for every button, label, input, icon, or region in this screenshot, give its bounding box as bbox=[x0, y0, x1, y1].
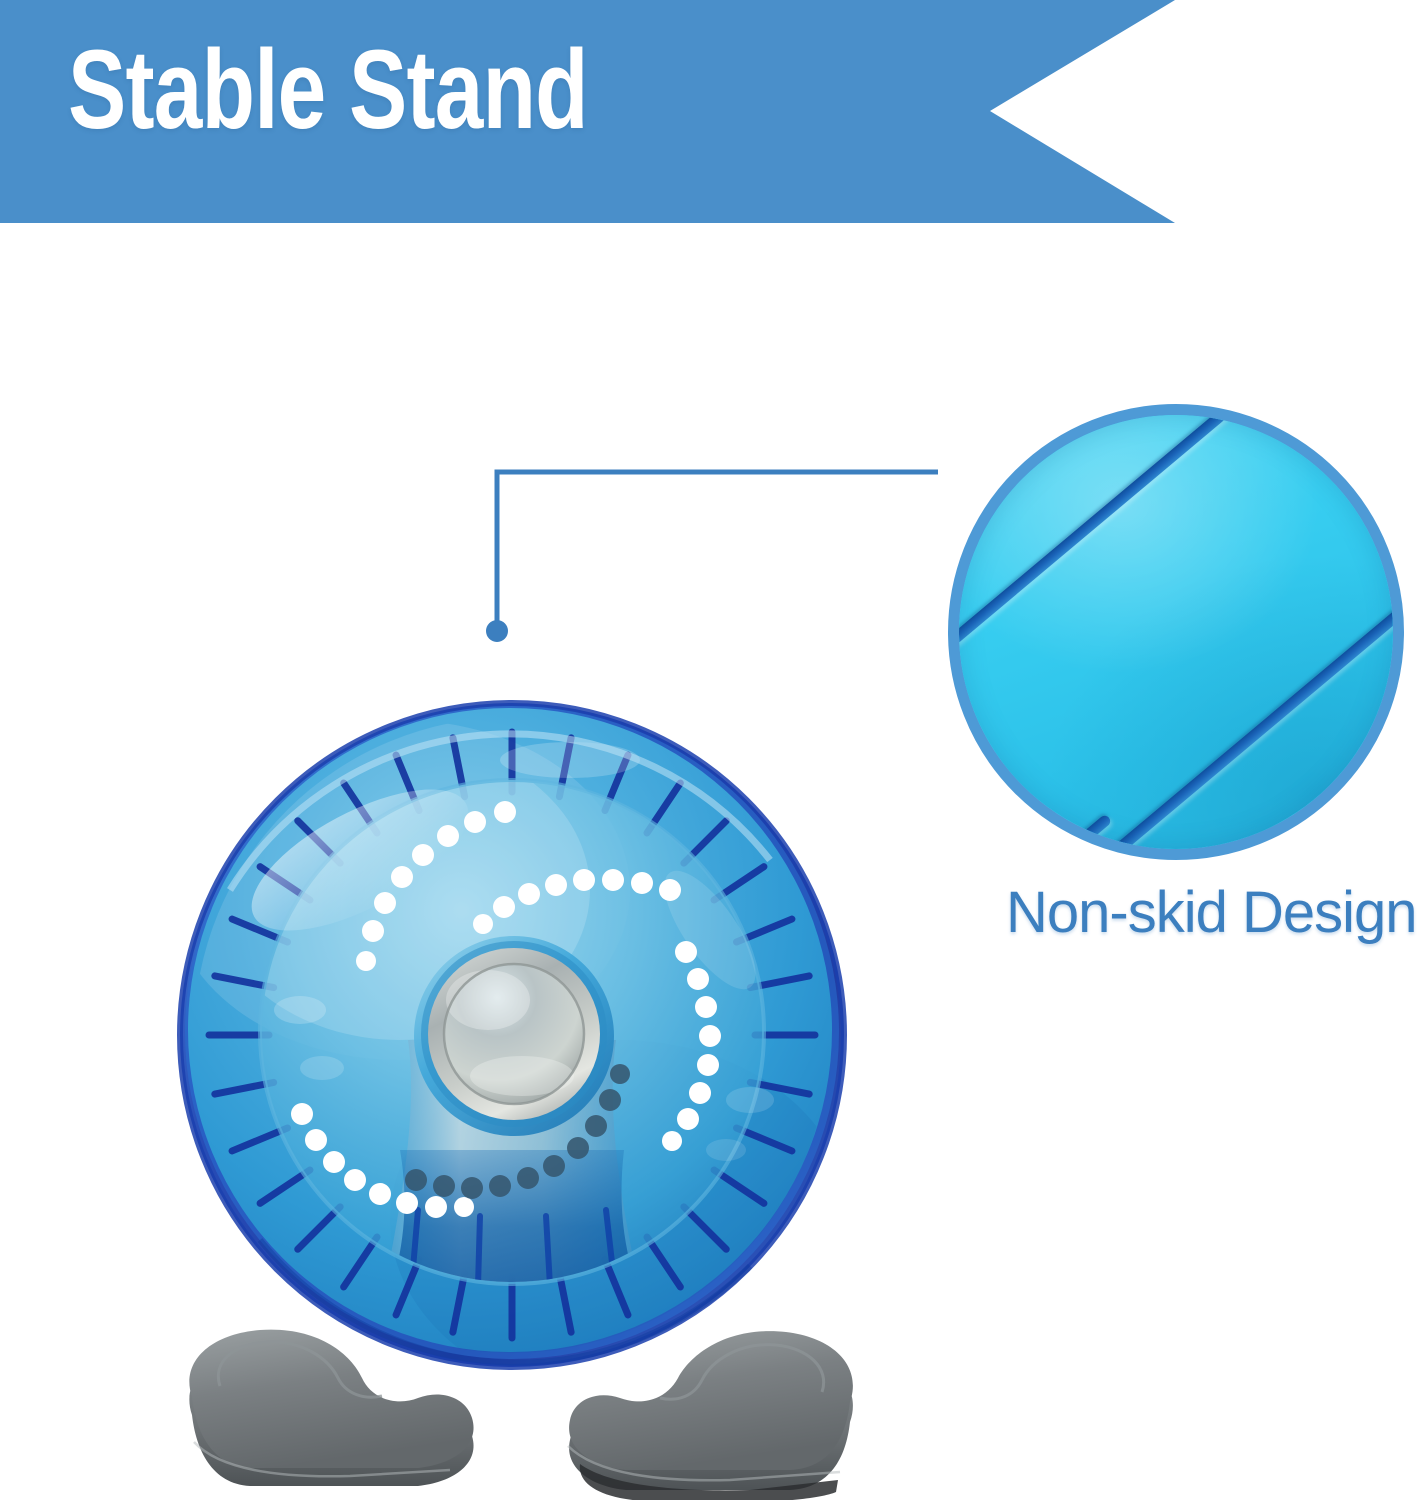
non-skid-callout-circle bbox=[948, 404, 1404, 860]
page-title: Stable Stand bbox=[68, 34, 588, 146]
callout-magnified-surface bbox=[959, 415, 1393, 849]
rubber-pad-surface bbox=[959, 415, 1393, 849]
stand-foot-right bbox=[568, 1331, 853, 1500]
leader-dot-icon bbox=[486, 620, 508, 642]
leader-line-path bbox=[497, 472, 938, 625]
non-skid-design-label: Non-skid Design bbox=[1006, 884, 1417, 942]
product-image-hamster-wheel bbox=[150, 680, 890, 1500]
wheel-body bbox=[170, 703, 850, 1400]
wheel-hub bbox=[414, 936, 614, 1136]
leader-line-icon bbox=[470, 440, 970, 660]
